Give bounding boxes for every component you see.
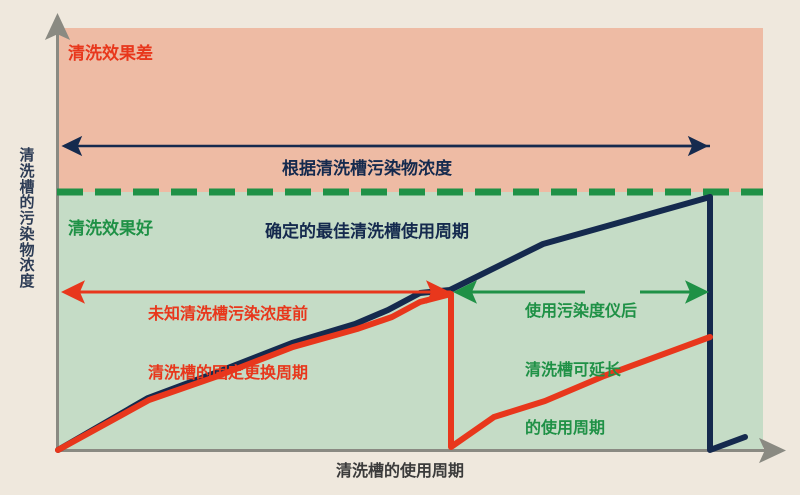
optimal-cycle-annotation-line2: 确定的最佳清洗槽使用周期 — [265, 222, 469, 243]
fixed-cycle-annotation-line2: 清洗槽的固定更换周期 — [148, 363, 308, 383]
y-axis-title: 清洗槽的污染物浓度 — [14, 148, 40, 290]
fixed-cycle-annotation: 未知清洗槽污染浓度前 清洗槽的固定更换周期 — [148, 265, 308, 421]
optimal-cycle-annotation: 根据清洗槽污染物浓度 确定的最佳清洗槽使用周期 — [265, 118, 469, 284]
extended-cycle-annotation-line2: 清洗槽可延长 — [525, 360, 637, 380]
extended-cycle-annotation-line3: 的使用周期 — [525, 418, 637, 438]
optimal-cycle-annotation-line1: 根据清洗槽污染物浓度 — [265, 159, 469, 180]
extended-cycle-annotation-line1: 使用污染度仪后 — [525, 301, 637, 321]
zone-good-label: 清洗效果好 — [68, 219, 153, 240]
x-axis-title: 清洗槽的使用周期 — [0, 461, 800, 481]
extended-cycle-annotation: 使用污染度仪后 清洗槽可延长 的使用周期 — [525, 262, 637, 477]
zone-bad-label: 清洗效果差 — [68, 44, 153, 65]
fixed-cycle-annotation-line1: 未知清洗槽污染浓度前 — [148, 304, 308, 324]
y-axis-title-char: 度 — [14, 274, 40, 290]
chart-figure: 清洗效果差 清洗效果好 根据清洗槽污染物浓度 确定的最佳清洗槽使用周期 未知清洗… — [0, 0, 800, 495]
